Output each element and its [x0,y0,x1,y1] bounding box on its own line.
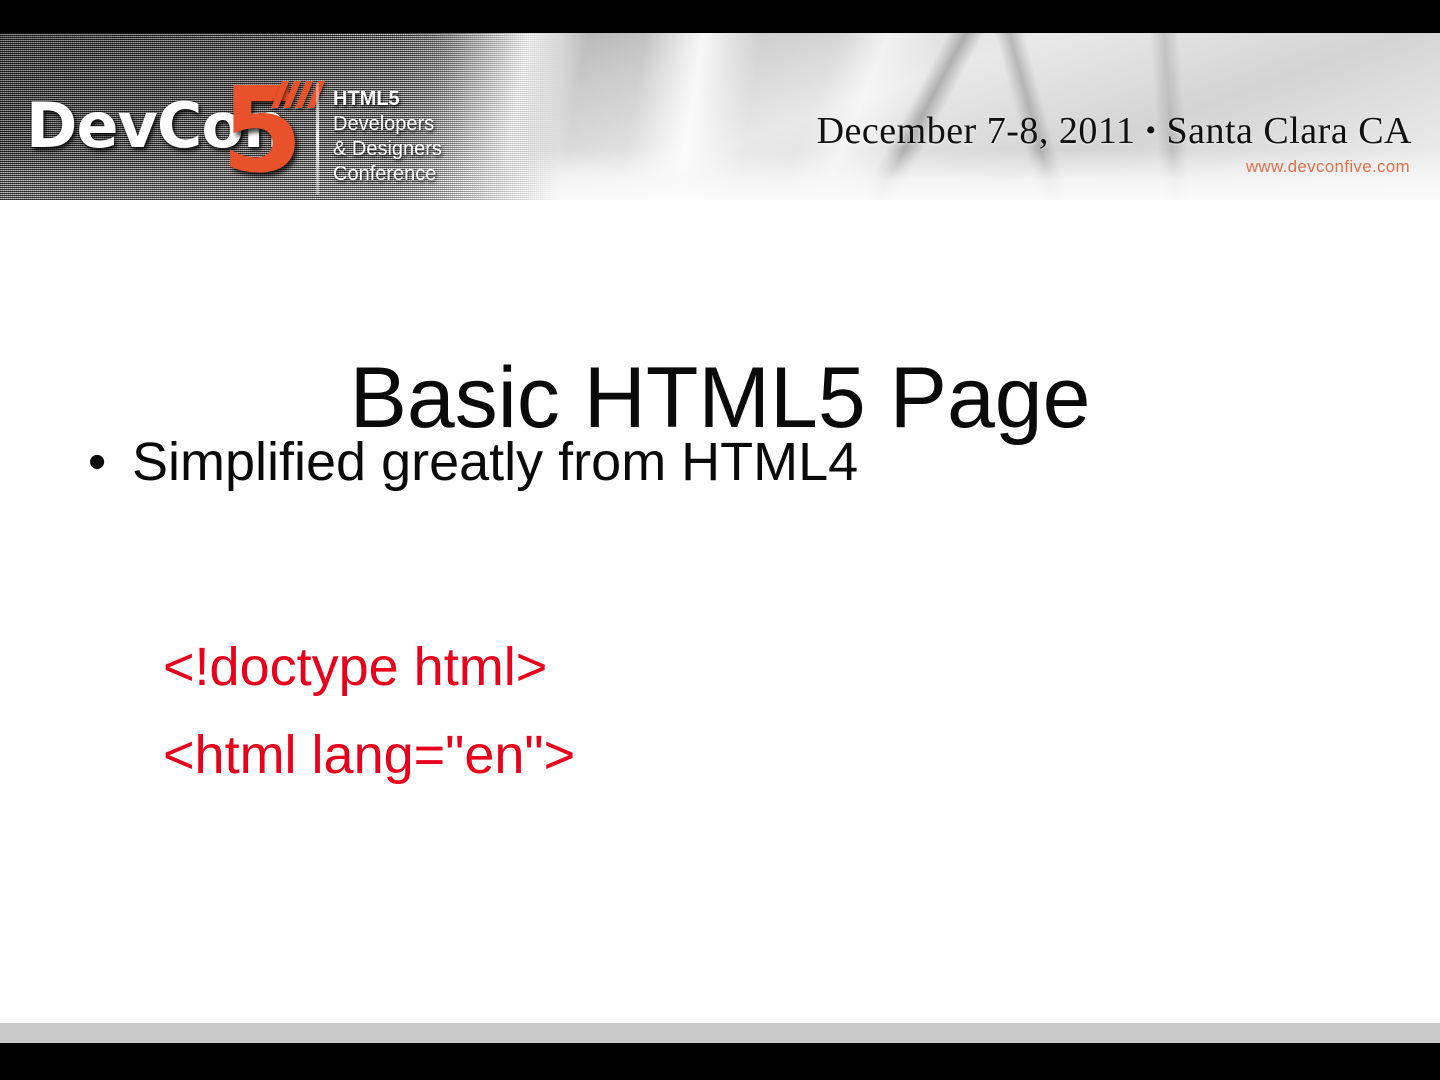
event-location: Santa Clara CA [1166,110,1412,152]
event-dates: December 7-8, 2011 [817,110,1136,152]
code-line-html-tag: <html lang="en"> [163,711,1263,799]
slide-bullet-list: • Simplified greatly from HTML4 [88,431,1368,503]
logo-tagline-line-3: & Designers [333,137,442,162]
slide-title: Basic HTML5 Page [0,353,1440,443]
code-snippet-block: <!doctype html> <html lang="en"> [163,623,1263,799]
presentation-slide: DevCon 5 HTML5 Developers & Designers Co… [0,0,1440,1080]
event-dateline: December 7-8, 2011•Santa Clara CA [817,109,1412,153]
dateline-separator: • [1135,114,1166,147]
code-line-doctype: <!doctype html> [163,623,1263,711]
logo-speedlines-icon [270,81,340,111]
logo-tagline-line-4: Conference [333,162,442,187]
slide-canvas: DevCon 5 HTML5 Developers & Designers Co… [0,33,1440,1043]
logo-tagline-line-1: HTML5 [333,87,442,112]
bullet-item: • Simplified greatly from HTML4 [88,431,1368,493]
header-banner: DevCon 5 HTML5 Developers & Designers Co… [0,33,1440,200]
logo-tagline-line-2: Developers [333,112,442,137]
event-website-url: www.devconfive.com [1246,157,1410,177]
logo-tagline: HTML5 Developers & Designers Conference [333,87,442,187]
slide-footer-bar [0,1023,1440,1043]
bullet-text: Simplified greatly from HTML4 [132,431,858,493]
devcon5-logo: DevCon 5 HTML5 Developers & Designers Co… [18,43,468,193]
logo-divider [316,83,319,195]
letterbox-bottom-bar [0,1043,1440,1080]
letterbox-top-bar [0,0,1440,33]
bullet-marker-icon: • [88,431,132,493]
